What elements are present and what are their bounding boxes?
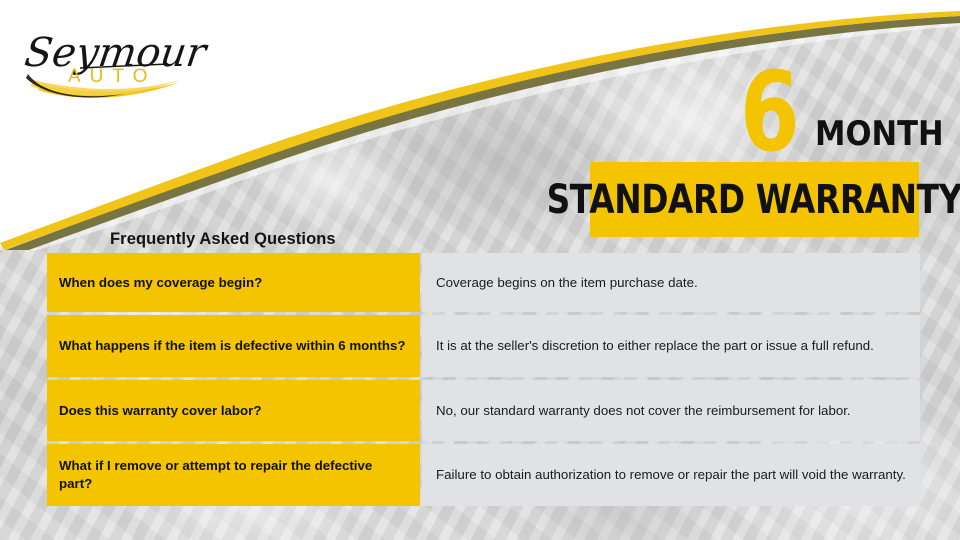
- warranty-months-number: 6: [740, 67, 797, 157]
- faq-answer-text: Failure to obtain authorization to remov…: [436, 466, 906, 484]
- faq-answer-text: No, our standard warranty does not cover…: [436, 402, 906, 420]
- table-row: What if I remove or attempt to repair th…: [47, 444, 920, 506]
- faq-answer-text: It is at the seller's discretion to eith…: [436, 337, 906, 355]
- faq-question-cell: What if I remove or attempt to repair th…: [47, 444, 420, 506]
- table-row: What happens if the item is defective wi…: [47, 315, 920, 377]
- faq-question-text: What if I remove or attempt to repair th…: [59, 457, 408, 492]
- faq-answer-cell: Coverage begins on the item purchase dat…: [422, 253, 920, 312]
- standard-warranty-banner: STANDARD WARRANTY: [590, 162, 919, 237]
- faq-answer-cell: Failure to obtain authorization to remov…: [422, 444, 920, 506]
- warranty-slide: Seymour AUTO 6 MONTH STANDARD WARRANTY F…: [0, 0, 960, 540]
- faq-table: When does my coverage begin? Coverage be…: [47, 253, 920, 506]
- table-row: When does my coverage begin? Coverage be…: [47, 253, 920, 312]
- svg-text:AUTO: AUTO: [68, 66, 156, 87]
- faq-answer-cell: It is at the seller's discretion to eith…: [422, 315, 920, 377]
- seymour-auto-logo: Seymour AUTO: [20, 18, 220, 108]
- faq-heading: Frequently Asked Questions: [110, 230, 336, 249]
- table-row: Does this warranty cover labor? No, our …: [47, 380, 920, 441]
- warranty-term-headline: 6 MONTH: [740, 52, 940, 157]
- faq-question-cell: When does my coverage begin?: [47, 253, 420, 312]
- warranty-months-label: MONTH: [815, 117, 944, 151]
- faq-question-text: When does my coverage begin?: [59, 274, 262, 292]
- faq-question-cell: Does this warranty cover labor?: [47, 380, 420, 441]
- standard-warranty-banner-label: STANDARD WARRANTY: [547, 180, 960, 220]
- faq-answer-text: Coverage begins on the item purchase dat…: [436, 274, 906, 292]
- faq-question-cell: What happens if the item is defective wi…: [47, 315, 420, 377]
- faq-answer-cell: No, our standard warranty does not cover…: [422, 380, 920, 441]
- faq-question-text: Does this warranty cover labor?: [59, 402, 261, 420]
- faq-question-text: What happens if the item is defective wi…: [59, 337, 406, 355]
